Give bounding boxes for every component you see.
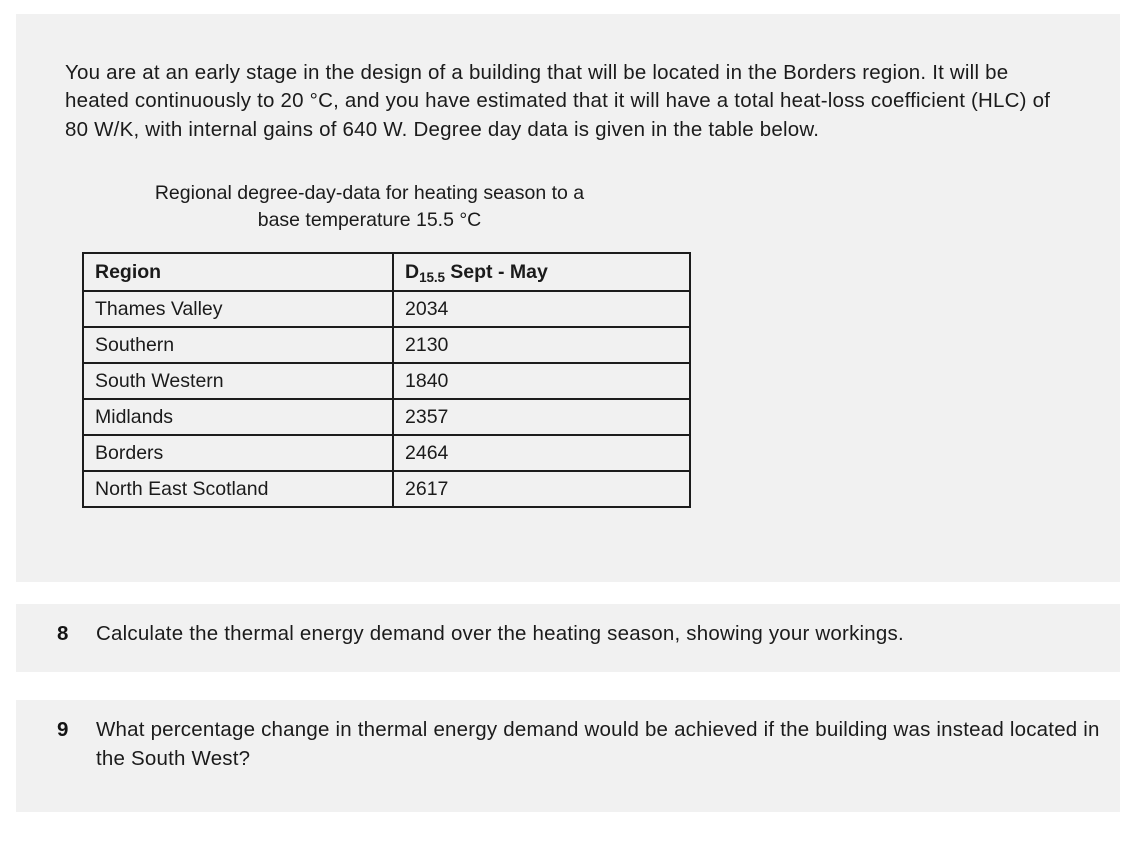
question-panel-9: 9 What percentage change in thermal ener…: [16, 700, 1120, 812]
cell-region: South Western: [83, 363, 393, 399]
question-panel-8: 8 Calculate the thermal energy demand ov…: [16, 604, 1120, 672]
table-row: Thames Valley 2034: [83, 291, 690, 327]
degree-day-base-subscript: 15.5: [419, 270, 445, 285]
cell-degree-days: 2034: [393, 291, 690, 327]
cell-region: Borders: [83, 435, 393, 471]
table-caption-line-1: Regional degree-day-data for heating sea…: [66, 180, 673, 207]
cell-region: Midlands: [83, 399, 393, 435]
column-header-region: Region: [83, 253, 393, 291]
degree-day-symbol: D: [405, 261, 419, 283]
question-text: What percentage change in thermal energy…: [96, 716, 1110, 773]
question-8: 8 Calculate the thermal energy demand ov…: [57, 620, 1110, 649]
column-header-degree-days: D15.5 Sept - May: [393, 253, 690, 291]
degree-day-period: Sept - May: [450, 261, 548, 283]
degree-day-table: Region D15.5 Sept - May Thames Valley 20…: [82, 252, 691, 508]
intro-paragraph: You are at an early stage in the design …: [65, 59, 1075, 145]
table-caption: Regional degree-day-data for heating sea…: [66, 180, 673, 234]
table-row: Midlands 2357: [83, 399, 690, 435]
cell-region: Southern: [83, 327, 393, 363]
worksheet-page: You are at an early stage in the design …: [0, 0, 1129, 862]
question-number: 8: [57, 620, 96, 649]
cell-degree-days: 2464: [393, 435, 690, 471]
cell-region: North East Scotland: [83, 471, 393, 507]
question-9: 9 What percentage change in thermal ener…: [57, 716, 1110, 773]
table-row: South Western 1840: [83, 363, 690, 399]
cell-region: Thames Valley: [83, 291, 393, 327]
question-context-panel: You are at an early stage in the design …: [16, 14, 1120, 582]
table-row: Borders 2464: [83, 435, 690, 471]
table-caption-line-2: base temperature 15.5 °C: [66, 207, 673, 234]
cell-degree-days: 2357: [393, 399, 690, 435]
table-row: Southern 2130: [83, 327, 690, 363]
cell-degree-days: 2130: [393, 327, 690, 363]
table-header-row: Region D15.5 Sept - May: [83, 253, 690, 291]
question-text: Calculate the thermal energy demand over…: [96, 620, 1110, 649]
table-row: North East Scotland 2617: [83, 471, 690, 507]
cell-degree-days: 2617: [393, 471, 690, 507]
question-number: 9: [57, 716, 96, 745]
cell-degree-days: 1840: [393, 363, 690, 399]
